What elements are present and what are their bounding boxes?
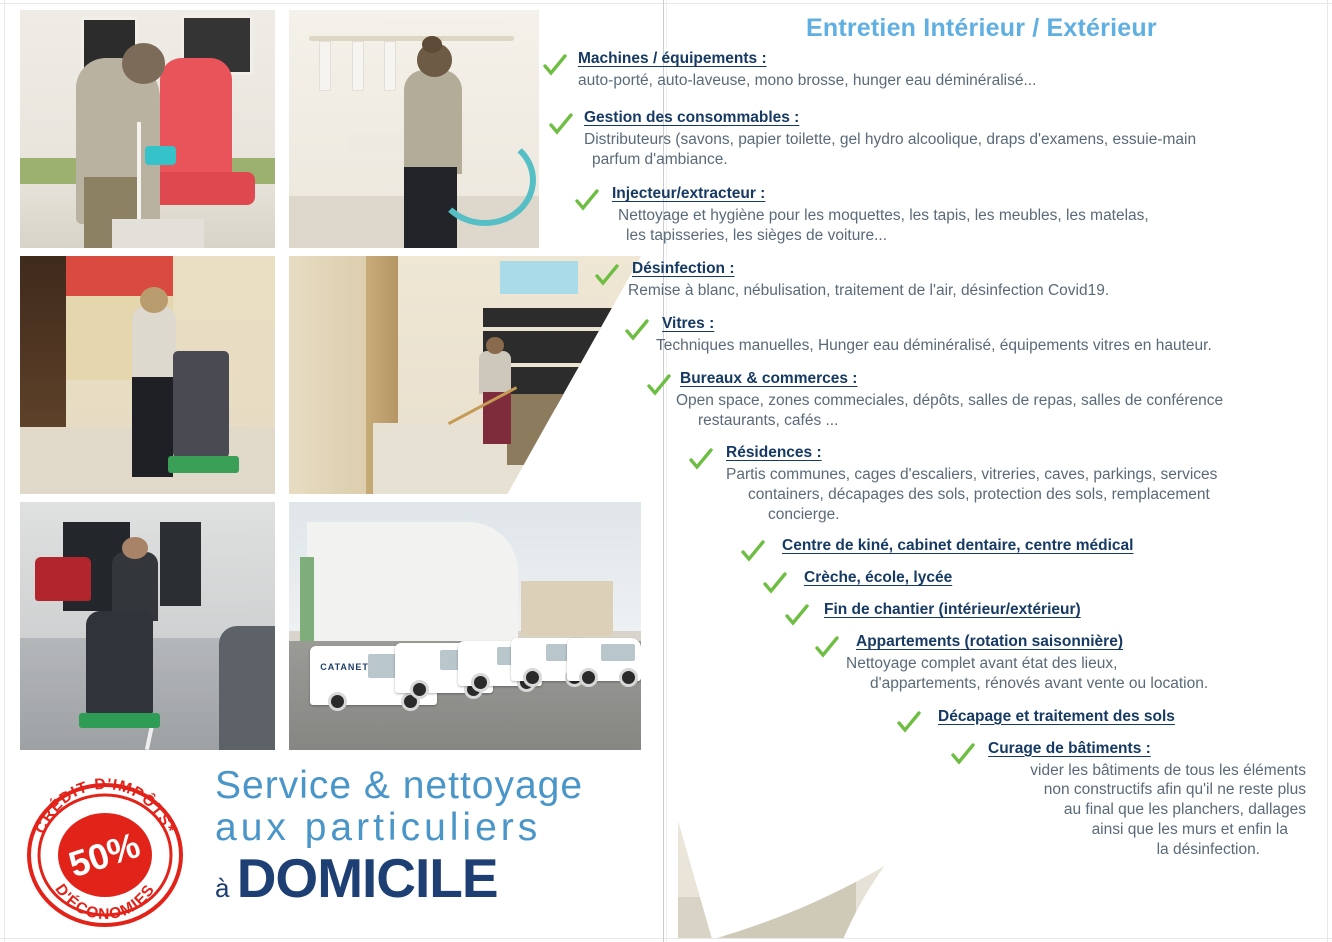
frame-left: [4, 0, 5, 942]
service-line: les tapisseries, les sièges de voiture..…: [626, 226, 1332, 246]
service-item-appartements[interactable]: Appartements (rotation saisonnière) Nett…: [540, 633, 1332, 694]
check-icon: [896, 710, 922, 736]
service-line: Nettoyage complet avant état des lieux,: [846, 654, 1332, 674]
check-icon: [574, 188, 600, 214]
service-line: ainsi que les murs et enfin la: [988, 820, 1288, 840]
check-icon: [740, 539, 766, 565]
slogan-domicile: DOMICILE: [237, 847, 498, 909]
service-line: au final que les planchers, dallages: [988, 800, 1306, 820]
page-title: Entretien Intérieur / Extérieur: [806, 14, 1157, 43]
service-heading: Résidences :: [726, 444, 1332, 462]
service-line: Partis communes, cages d'escaliers, vitr…: [726, 465, 1332, 485]
service-item-creche-ecole-lycee[interactable]: Crèche, école, lycée: [540, 569, 1332, 587]
photo-agent-with-floor-scrubber-clinic: [20, 256, 275, 494]
service-heading: Fin de chantier: [824, 601, 934, 618]
service-item-desinfection[interactable]: Désinfection : Remise à blanc, nébulisat…: [540, 260, 1332, 301]
service-heading: Centre de kiné, cabinet dentaire, centre…: [782, 537, 1332, 555]
service-item-decapage-traitement[interactable]: Décapage et traitement des sols: [540, 708, 1332, 726]
service-line: containers, décapages des sols, protecti…: [748, 485, 1332, 505]
service-heading: Appartements: [856, 633, 960, 650]
service-heading: Machines / équipements :: [578, 50, 1332, 68]
tax-credit-seal: CRÉDIT D'IMPÔTS* D'ÉCONOMIES 50%: [22, 777, 188, 929]
service-heading-suffix: des sols: [1109, 708, 1175, 725]
check-icon: [762, 571, 788, 597]
service-heading: Crèche, école, lycée: [804, 569, 1332, 587]
service-heading: Injecteur/extracteur :: [612, 185, 1332, 203]
check-icon: [548, 112, 574, 138]
service-item-machines-equipements[interactable]: Machines / équipements : auto-porté, aut…: [540, 50, 1332, 91]
check-icon: [784, 603, 810, 629]
check-icon: [950, 742, 976, 768]
service-line: parfum d'ambiance.: [592, 150, 1332, 170]
service-line-text: Nettoyage complet avant état des lieux,: [846, 655, 1117, 672]
service-heading: Désinfection :: [632, 260, 1332, 278]
service-item-residences[interactable]: Résidences : Partis communes, cages d'es…: [540, 444, 1332, 524]
service-list: Machines / équipements : auto-porté, aut…: [540, 50, 1332, 862]
service-line: Nettoyage et hygiène pour les moquettes,…: [618, 206, 1332, 226]
photo-agent-on-ride-on-scrubber-garage: [20, 502, 275, 750]
slogan-prefix: à: [215, 873, 229, 903]
service-heading: Curage de bâtiments :: [988, 740, 1332, 758]
slogan-line-2: aux particuliers: [215, 807, 655, 849]
service-item-centre-kine[interactable]: Centre de kiné, cabinet dentaire, centre…: [540, 537, 1332, 555]
photo-agent-cleaning-red-medical-chair: [20, 10, 275, 248]
service-item-vitres[interactable]: Vitres : Techniques manuelles, Hunger ea…: [540, 315, 1332, 356]
service-item-curage-batiments[interactable]: Curage de bâtiments : vider les bâtiment…: [540, 740, 1332, 860]
photo-agent-with-hose-in-corridor: [289, 10, 539, 248]
service-line: restaurants, cafés ...: [698, 411, 1332, 431]
service-line: d'appartements, rénovés avant vente ou l…: [870, 674, 1332, 694]
service-item-bureaux-commerces[interactable]: Bureaux & commerces : Open space, zones …: [540, 370, 1332, 431]
service-line: Techniques manuelles, Hunger eau déminér…: [656, 336, 1332, 356]
flyer-page: CATANET CATANET Nettoyage - Entretien di…: [0, 0, 1332, 942]
service-item-fin-de-chantier[interactable]: Fin de chantier (intérieur/extérieur): [540, 601, 1332, 619]
service-line: non constructifs afin qu'il ne reste plu…: [988, 780, 1306, 800]
check-icon: [542, 53, 568, 79]
service-heading: Gestion des consommables :: [584, 109, 1332, 127]
service-line: Remise à blanc, nébulisation, traitement…: [628, 281, 1332, 301]
slogan-line-3: à DOMICILE: [215, 850, 655, 908]
service-line: la désinfection.: [988, 840, 1260, 860]
check-icon: [814, 635, 840, 661]
slogan-line-1: Service & nettoyage: [215, 765, 655, 807]
service-line: auto-porté, auto-laveuse, mono brosse, h…: [578, 71, 1332, 91]
service-item-injecteur-extracteur[interactable]: Injecteur/extracteur : Nettoyage et hygi…: [540, 185, 1332, 246]
check-icon: [646, 373, 672, 399]
service-heading: Vitres :: [662, 315, 1332, 333]
service-heading-suffix: (intérieur/extérieur): [934, 601, 1080, 618]
service-line: vider les bâtiments de tous les éléments: [988, 761, 1306, 781]
slogan-block: Service & nettoyage aux particuliers à D…: [215, 765, 655, 908]
service-line: Distributeurs (savons, papier toilette, …: [584, 130, 1332, 150]
service-heading: Bureaux & commerces :: [680, 370, 1332, 388]
van-brand-label: CATANET: [320, 662, 369, 672]
service-item-gestion-consommables[interactable]: Gestion des consommables : Distributeurs…: [540, 109, 1332, 170]
service-heading: Décapage et traitement: [938, 708, 1109, 725]
service-heading-suffix: (rotation saisonnière): [960, 633, 1123, 650]
service-line: Open space, zones commeciales, dépôts, s…: [676, 391, 1332, 411]
check-icon: [624, 318, 650, 344]
service-line: concierge.: [768, 505, 1332, 525]
check-icon: [688, 447, 714, 473]
check-icon: [594, 263, 620, 289]
